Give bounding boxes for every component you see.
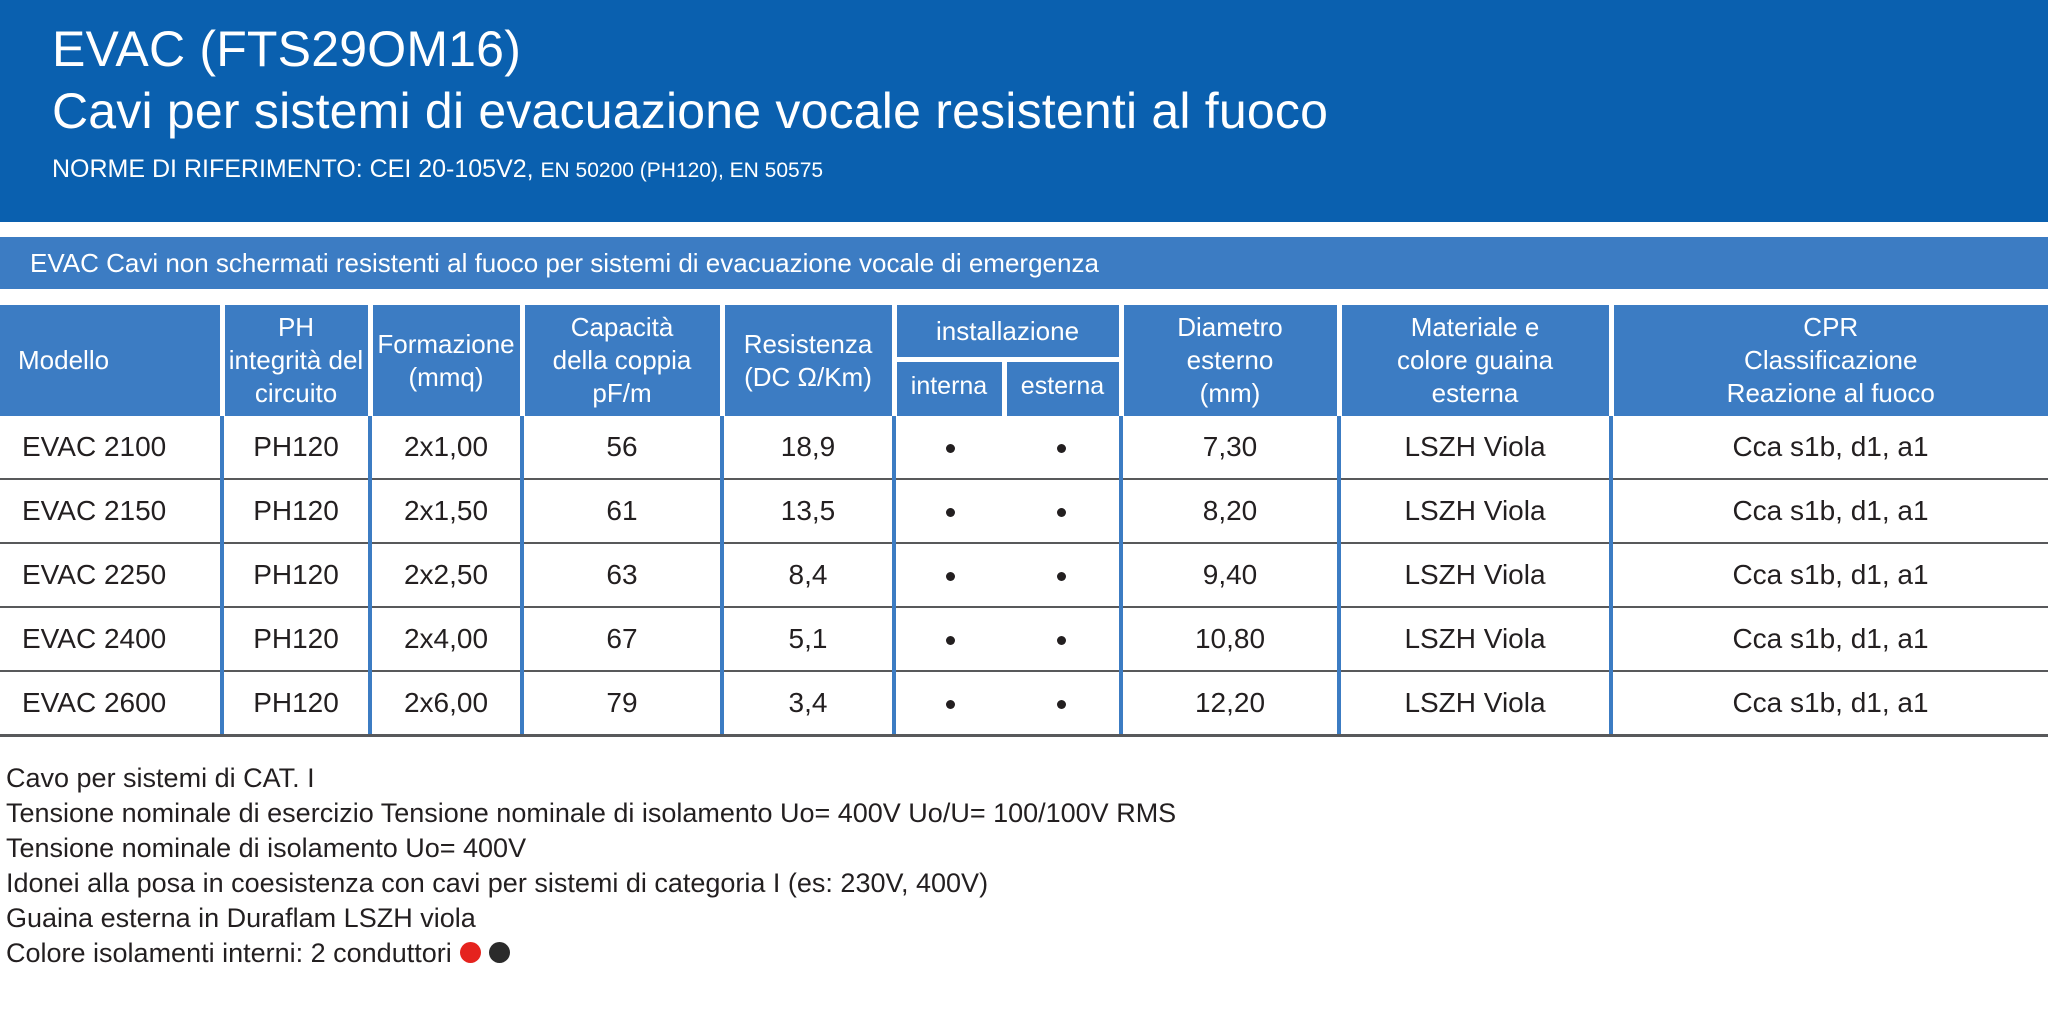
col-header-capacita: Capacità della coppia pF/m (522, 305, 722, 416)
cell-ph: PH120 (222, 671, 370, 734)
col-header-cpr: CPR Classificazione Reazione al fuoco (1611, 305, 2048, 416)
table-row: EVAC 2150 PH120 2x1,50 61 13,5 8,20 LSZH… (0, 479, 2048, 543)
bullet-dot-icon (946, 508, 955, 517)
cell-diametro: 8,20 (1121, 479, 1339, 543)
header-spacer (0, 222, 2048, 237)
cell-capacita: 63 (522, 543, 722, 607)
cell-capacita: 61 (522, 479, 722, 543)
cell-esterna (1004, 543, 1121, 607)
cell-interna (894, 671, 1004, 734)
banner-spacer (0, 289, 2048, 305)
cell-formazione: 2x2,50 (370, 543, 522, 607)
section-banner: EVAC Cavi non schermati resistenti al fu… (0, 237, 2048, 289)
cell-resistenza: 18,9 (722, 416, 894, 479)
col-header-capacita-line3: pF/m (529, 377, 716, 410)
col-header-capacita-line1: Capacità (529, 311, 716, 344)
page-header-banner: EVAC (FTS29OM16) Cavi per sistemi di eva… (0, 0, 2048, 222)
cell-ph: PH120 (222, 543, 370, 607)
cell-resistenza: 5,1 (722, 607, 894, 671)
cell-materiale: LSZH Viola (1339, 543, 1611, 607)
conductor-color-black-icon (489, 942, 510, 963)
cell-interna (894, 479, 1004, 543)
bullet-dot-icon (946, 572, 955, 581)
col-header-resistenza: Resistenza (DC Ω/Km) (722, 305, 894, 416)
cell-interna (894, 607, 1004, 671)
cell-capacita: 56 (522, 416, 722, 479)
cell-materiale: LSZH Viola (1339, 671, 1611, 734)
table-row: EVAC 2100 PH120 2x1,00 56 18,9 7,30 LSZH… (0, 416, 2048, 479)
col-header-materiale: Materiale e colore guaina esterna (1339, 305, 1611, 416)
col-header-esterna: esterna (1004, 359, 1121, 416)
table-body: EVAC 2100 PH120 2x1,00 56 18,9 7,30 LSZH… (0, 416, 2048, 734)
cell-modello: EVAC 2150 (0, 479, 222, 543)
specification-table: Modello PH integrità del circuito Formaz… (0, 305, 2048, 734)
reference-standards-main: NORME DI RIFERIMENTO: CEI 20-105V2, (52, 155, 534, 183)
col-header-resistenza-line2: (DC Ω/Km) (729, 361, 888, 394)
bullet-dot-icon (946, 444, 955, 453)
cell-cpr: Cca s1b, d1, a1 (1611, 671, 2048, 734)
note-line: Cavo per sistemi di CAT. I (6, 761, 2048, 796)
cell-diametro: 10,80 (1121, 607, 1339, 671)
col-header-cpr-line2: Classificazione (1618, 344, 2045, 377)
col-header-interna: interna (894, 359, 1004, 416)
table-row: EVAC 2400 PH120 2x4,00 67 5,1 10,80 LSZH… (0, 607, 2048, 671)
cell-modello: EVAC 2600 (0, 671, 222, 734)
specification-table-wrapper: Modello PH integrità del circuito Formaz… (0, 305, 2048, 737)
cell-materiale: LSZH Viola (1339, 607, 1611, 671)
cell-ph: PH120 (222, 607, 370, 671)
col-header-formazione: Formazione (mmq) (370, 305, 522, 416)
col-header-capacita-line2: della coppia (529, 344, 716, 377)
note-conductors-label: Colore isolamenti interni: 2 conduttori (6, 938, 452, 968)
col-header-modello: Modello (0, 305, 222, 416)
cell-esterna (1004, 479, 1121, 543)
conductor-color-red-icon (460, 942, 481, 963)
cell-modello: EVAC 2400 (0, 607, 222, 671)
cell-materiale: LSZH Viola (1339, 479, 1611, 543)
cell-cpr: Cca s1b, d1, a1 (1611, 416, 2048, 479)
cell-materiale: LSZH Viola (1339, 416, 1611, 479)
col-header-materiale-line2: colore guaina (1346, 344, 1605, 377)
note-line: Tensione nominale di esercizio Tensione … (6, 796, 2048, 831)
col-header-cpr-line3: Reazione al fuoco (1618, 377, 2045, 410)
col-header-diametro-line1: Diametro (1128, 311, 1333, 344)
page-title: EVAC (FTS29OM16) (52, 18, 2048, 80)
bullet-dot-icon (946, 636, 955, 645)
cell-esterna (1004, 607, 1121, 671)
cell-ph: PH120 (222, 479, 370, 543)
table-header: Modello PH integrità del circuito Formaz… (0, 305, 2048, 416)
col-header-installazione: installazione (894, 305, 1121, 359)
col-header-materiale-line1: Materiale e (1346, 311, 1605, 344)
cell-interna (894, 416, 1004, 479)
cell-cpr: Cca s1b, d1, a1 (1611, 479, 2048, 543)
col-header-ph-line1: PH (229, 311, 364, 344)
bullet-dot-icon (1057, 508, 1066, 517)
col-header-diametro: Diametro esterno (mm) (1121, 305, 1339, 416)
bullet-dot-icon (1057, 636, 1066, 645)
note-line-conductors: Colore isolamenti interni: 2 conduttori (6, 936, 2048, 971)
cell-modello: EVAC 2250 (0, 543, 222, 607)
col-header-materiale-line3: esterna (1346, 377, 1605, 410)
reference-standards: NORME DI RIFERIMENTO: CEI 20-105V2, EN 5… (52, 154, 2048, 186)
bullet-dot-icon (946, 700, 955, 709)
cell-formazione: 2x6,00 (370, 671, 522, 734)
cell-interna (894, 543, 1004, 607)
bullet-dot-icon (1057, 700, 1066, 709)
bullet-dot-icon (1057, 572, 1066, 581)
cell-resistenza: 3,4 (722, 671, 894, 734)
section-banner-label: EVAC Cavi non schermati resistenti al fu… (30, 248, 1099, 279)
reference-standards-secondary: EN 50200 (PH120), EN 50575 (541, 159, 824, 182)
table-bottom-border (0, 734, 2048, 737)
table-row: EVAC 2600 PH120 2x6,00 79 3,4 12,20 LSZH… (0, 671, 2048, 734)
note-line: Tensione nominale di isolamento Uo= 400V (6, 831, 2048, 866)
cell-esterna (1004, 416, 1121, 479)
cell-resistenza: 8,4 (722, 543, 894, 607)
cell-diametro: 9,40 (1121, 543, 1339, 607)
cell-formazione: 2x4,00 (370, 607, 522, 671)
cell-formazione: 2x1,50 (370, 479, 522, 543)
note-line: Guaina esterna in Duraflam LSZH viola (6, 901, 2048, 936)
note-line: Idonei alla posa in coesistenza con cavi… (6, 866, 2048, 901)
col-header-formazione-line2: (mmq) (377, 361, 516, 394)
footer-notes: Cavo per sistemi di CAT. I Tensione nomi… (0, 737, 2048, 971)
cell-diametro: 7,30 (1121, 416, 1339, 479)
col-header-ph: PH integrità del circuito (222, 305, 370, 416)
cell-modello: EVAC 2100 (0, 416, 222, 479)
col-header-formazione-line1: Formazione (377, 328, 516, 361)
cell-formazione: 2x1,00 (370, 416, 522, 479)
table-row: EVAC 2250 PH120 2x2,50 63 8,4 9,40 LSZH … (0, 543, 2048, 607)
cell-capacita: 67 (522, 607, 722, 671)
bullet-dot-icon (1057, 444, 1066, 453)
cell-cpr: Cca s1b, d1, a1 (1611, 607, 2048, 671)
cell-esterna (1004, 671, 1121, 734)
col-header-diametro-line2: esterno (1128, 344, 1333, 377)
col-header-cpr-line1: CPR (1618, 311, 2045, 344)
col-header-diametro-line3: (mm) (1128, 377, 1333, 410)
cell-capacita: 79 (522, 671, 722, 734)
cell-ph: PH120 (222, 416, 370, 479)
col-header-resistenza-line1: Resistenza (729, 328, 888, 361)
cell-resistenza: 13,5 (722, 479, 894, 543)
col-header-ph-line2: integrità del (229, 344, 364, 377)
page-subtitle: Cavi per sistemi di evacuazione vocale r… (52, 80, 2048, 142)
col-header-ph-line3: circuito (229, 377, 364, 410)
table-header-row-main: Modello PH integrità del circuito Formaz… (0, 305, 2048, 359)
cell-diametro: 12,20 (1121, 671, 1339, 734)
cell-cpr: Cca s1b, d1, a1 (1611, 543, 2048, 607)
